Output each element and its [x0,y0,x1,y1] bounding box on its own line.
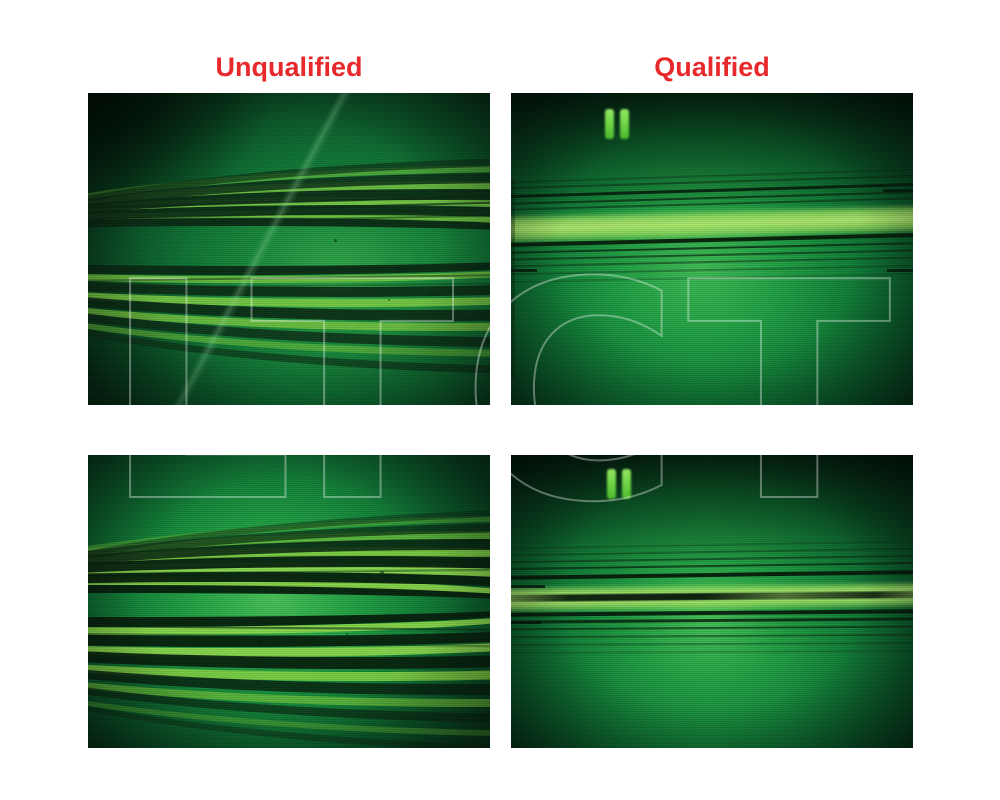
column-header-qualified: Qualified [511,52,913,83]
bright-double-bar-marker [607,469,631,499]
interferogram-panel-bottom-left [88,455,490,748]
edge-tick-mark [883,189,913,192]
figure-canvas: Unqualified Qualified [0,0,1000,800]
marker-bar-right [620,109,629,139]
column-header-unqualified: Unqualified [88,52,490,83]
panel-vignette [88,455,490,748]
marker-bar-left [605,109,614,139]
panel-vignette [88,93,490,405]
panel-vignette [511,93,913,405]
dust-speck [258,637,261,645]
dust-speck [388,299,390,301]
edge-tick-mark [511,621,541,624]
bright-double-bar-marker [605,109,629,139]
edge-tick-mark [887,269,913,272]
dust-speck [380,571,384,574]
interferogram-panel-top-left [88,93,490,405]
dust-speck [346,633,348,635]
interferogram-panel-bottom-right [511,455,913,748]
panel-vignette [511,455,913,748]
interferogram-panel-top-right [511,93,913,405]
marker-bar-left [607,469,616,499]
edge-tick-mark [511,585,545,588]
edge-tick-mark [511,179,515,379]
dust-speck [334,239,337,242]
marker-bar-right [622,469,631,499]
